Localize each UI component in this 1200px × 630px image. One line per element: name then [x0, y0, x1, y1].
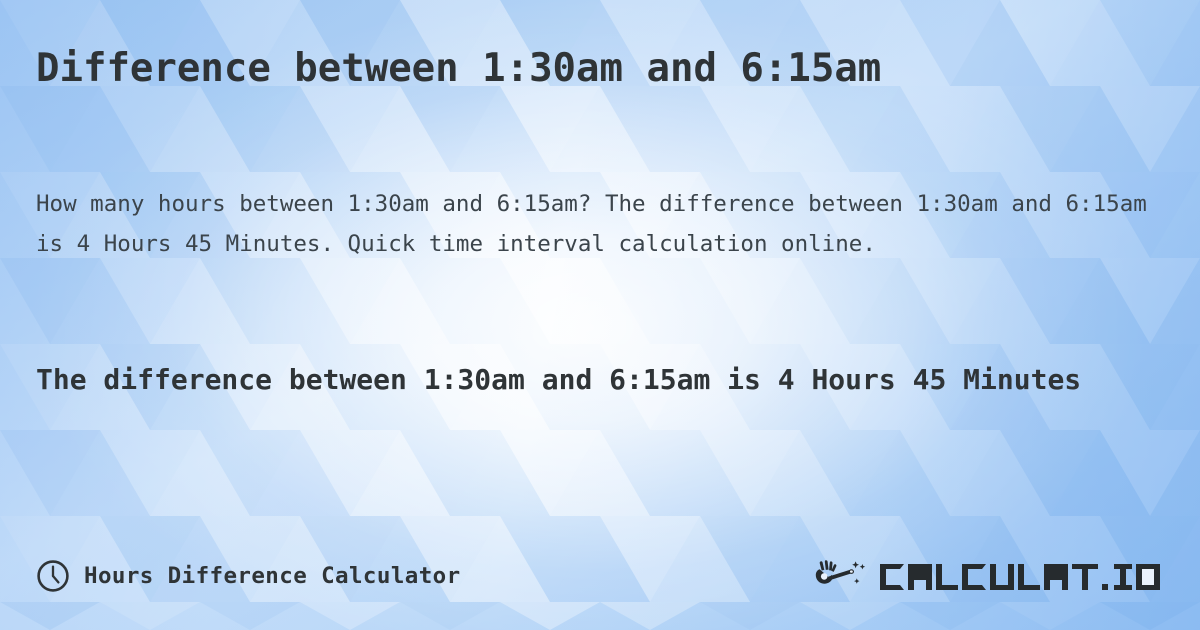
brand-wordmark [878, 556, 1164, 596]
intro-paragraph: How many hours between 1:30am and 6:15am… [36, 184, 1161, 264]
answer-heading: The difference between 1:30am and 6:15am… [36, 356, 1146, 404]
hand-magic-wand-icon [811, 556, 871, 596]
brand-logo[interactable] [811, 556, 1164, 596]
footer-tool-name: Hours Difference Calculator [84, 563, 461, 589]
card-footer: Hours Difference Calculator [36, 552, 1164, 600]
card-content: Difference between 1:30am and 6:15am How… [0, 0, 1200, 630]
share-card: Difference between 1:30am and 6:15am How… [0, 0, 1200, 630]
clock-icon [36, 559, 70, 593]
footer-tool-label-group: Hours Difference Calculator [36, 559, 461, 593]
page-title: Difference between 1:30am and 6:15am [36, 44, 1166, 93]
